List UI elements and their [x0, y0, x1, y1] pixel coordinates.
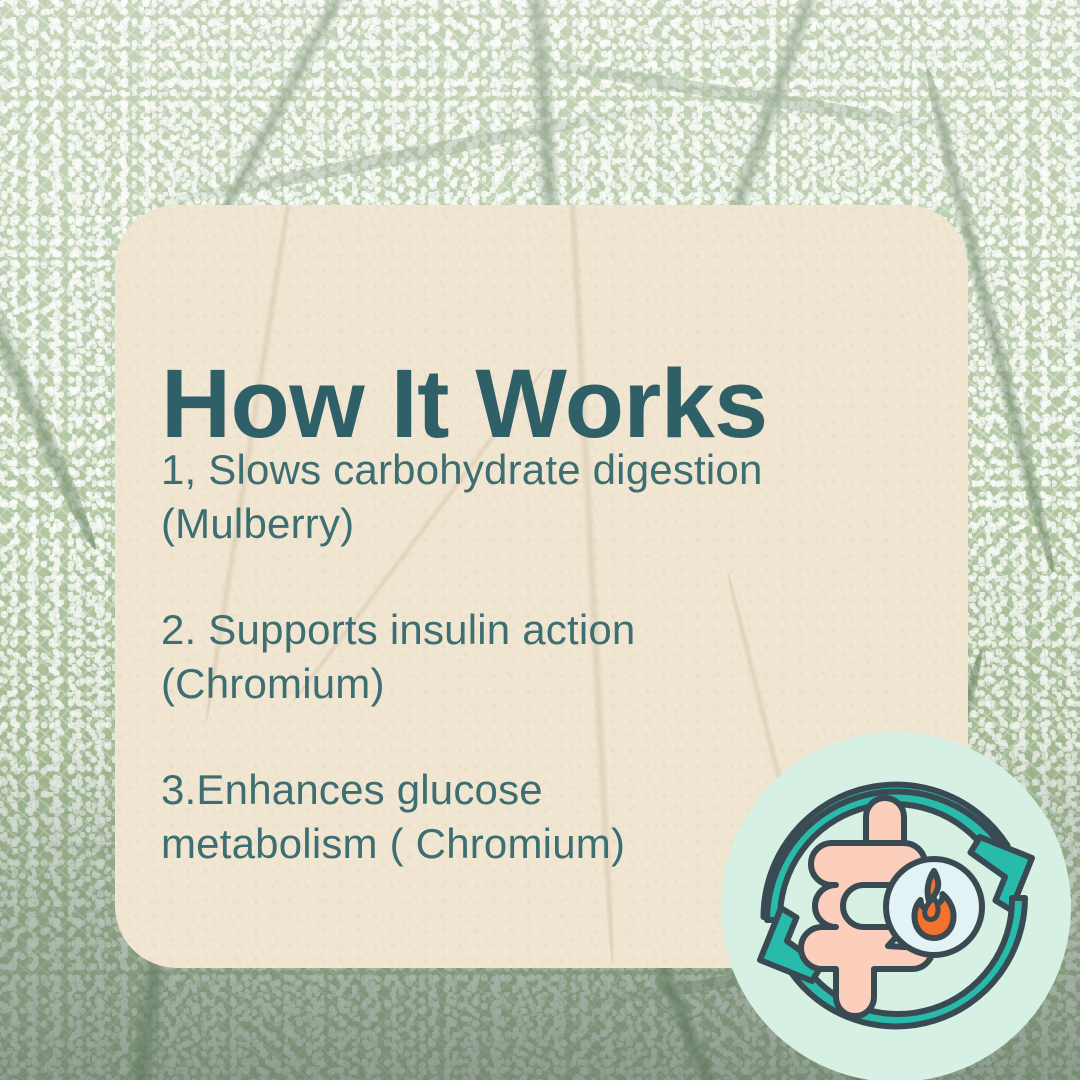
list-item: 2. Supports insulin action (Chromium) [161, 603, 921, 711]
poster: How It Works 1, Slows carbohydrate diges… [0, 0, 1080, 1080]
step-line: (Mulberry) [161, 497, 921, 551]
step-line: 2. Supports insulin action [161, 603, 921, 657]
flame-bubble [886, 859, 982, 955]
list-item: 1, Slows carbohydrate digestion (Mulberr… [161, 443, 921, 551]
metabolism-cycle-badge [712, 730, 1080, 1080]
step-line: 1, Slows carbohydrate digestion [161, 443, 921, 497]
page-title: How It Works [161, 355, 941, 452]
step-line: (Chromium) [161, 657, 921, 711]
